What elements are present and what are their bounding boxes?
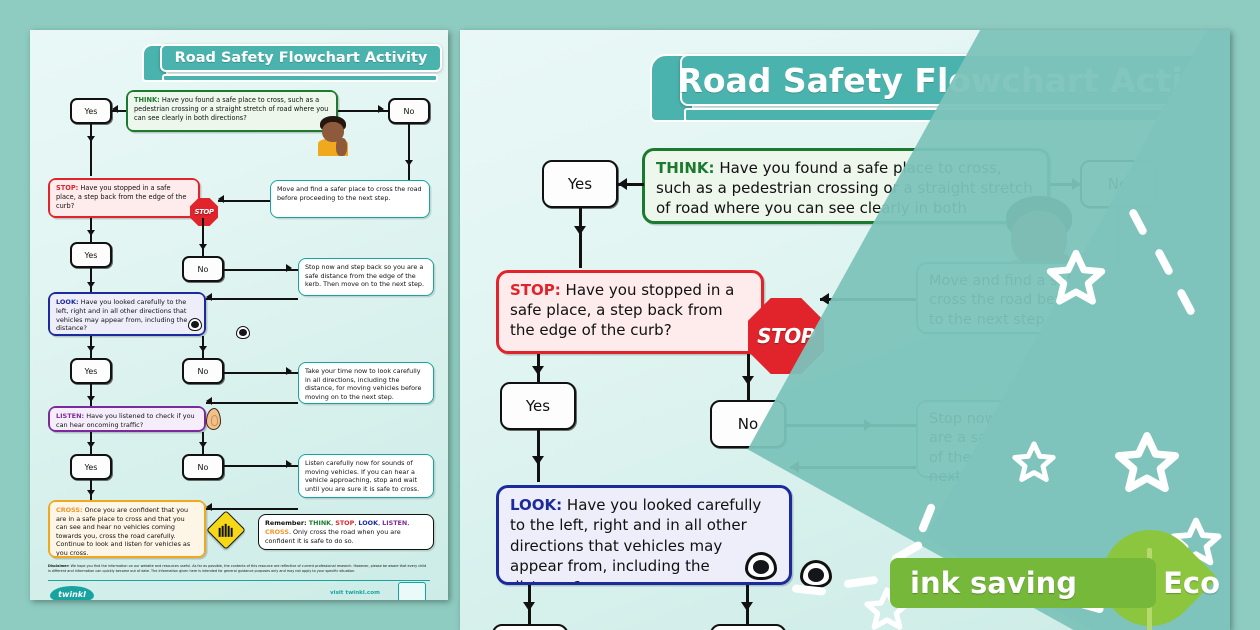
zoom-question-keyword-think: THINK:	[656, 159, 715, 177]
arrowhead-listen-yes	[87, 442, 95, 448]
question-text-think: Have you found a safe place to cross, su…	[134, 96, 328, 122]
remember-lead: Remember:	[265, 519, 309, 527]
yes-node-stop[interactable]: Yes	[70, 242, 112, 268]
visit-twinkl-link[interactable]: visit twinkl.com	[330, 590, 380, 596]
stop-sign-icon: STOP	[190, 198, 218, 226]
connector-yes1-down	[90, 124, 92, 176]
response-box-think-no[interactable]: Move and find a safer place to cross the…	[270, 180, 430, 218]
zoom-response-text-stop-no: Stop now and step back so you are a safe…	[929, 411, 1175, 485]
watermark-dash-9	[1120, 588, 1155, 600]
zoom-question-box-think[interactable]: THINK: Have you found a safe place to cr…	[642, 148, 1050, 224]
connector-resp2-to-look	[206, 298, 298, 300]
eco-badge-text-right: Eco	[1163, 566, 1220, 600]
zoom-yes-node-stop-label: Yes	[526, 397, 550, 415]
watermark-dash-10	[1073, 598, 1104, 614]
question-keyword-stop: STOP:	[56, 184, 78, 192]
response-text-listen-no: Listen carefully now for sounds of movin…	[305, 459, 419, 493]
eco-leaf-icon	[1082, 510, 1218, 630]
visit-twinkl-text: visit twinkl.com	[330, 590, 380, 596]
question-box-listen[interactable]: LISTEN: Have you listened to check if yo…	[48, 406, 206, 432]
zoom-arrowhead-yes1-down	[574, 226, 586, 235]
thinking-person-illustration	[318, 116, 348, 156]
watermark-dash-5	[890, 540, 923, 564]
question-box-cross[interactable]: CROSS: Once you are confident that you a…	[48, 500, 206, 558]
connector-resp4-to-cross	[206, 508, 298, 510]
zoom-arrowhead-resp2-look	[790, 461, 799, 473]
yes-node-listen-label: Yes	[85, 463, 98, 472]
zoom-no-node-think-label: No	[1108, 175, 1128, 193]
arrowhead-yes3-down	[87, 396, 95, 402]
connector-no1-down	[408, 124, 410, 180]
zoom-arrowhead-yes2-down	[532, 456, 544, 465]
zoom-preview-page[interactable]: Road Safety Flowchart Activity Yes THINK…	[460, 30, 1230, 630]
watermark-dash-4	[918, 503, 937, 534]
connector-yes2-down	[90, 268, 92, 292]
zoom-stop-sign-icon: STOP	[748, 298, 824, 374]
disclaimer-body: We hope you find the information on our …	[48, 564, 426, 573]
zoom-connector-resp2-look	[790, 466, 916, 469]
yes-node-look-label: Yes	[85, 367, 98, 376]
zoom-connector-no2-resp2	[786, 424, 916, 427]
thumbnail-title-text: Road Safety Flowchart Activity	[175, 50, 428, 66]
zoom-question-box-stop[interactable]: STOP: Have you stopped in a safe place, …	[496, 270, 764, 354]
zoom-title-text: Road Safety Flowchart Activity	[677, 61, 1230, 100]
arrowhead-yes1-down	[87, 136, 95, 142]
yes-node-look[interactable]: Yes	[70, 358, 112, 384]
arrowhead-resp1-stop	[218, 195, 224, 203]
arrowhead-stop-yes	[87, 230, 95, 236]
arrowhead-resp4-cross	[206, 503, 212, 511]
zoom-eye-icon-inner	[745, 552, 777, 580]
no-node-listen[interactable]: No	[182, 454, 224, 480]
no-node-think[interactable]: No	[388, 98, 430, 124]
watermark-star-4	[1168, 516, 1224, 570]
arrowhead-no3-resp3	[286, 367, 292, 375]
twinkl-stamp-icon	[398, 582, 426, 600]
zoom-arrowhead-stop-no	[742, 376, 754, 385]
remember-word-think: THINK	[309, 519, 331, 527]
eye-icon-inner	[188, 318, 202, 331]
yes-node-stop-label: Yes	[85, 251, 98, 260]
zoom-no-node-stop[interactable]: No	[710, 400, 786, 448]
remember-word-look: LOOK	[358, 519, 378, 527]
zoom-arrowhead-look-yes	[523, 602, 535, 611]
zoom-response-text-think-no: Move and find a safer place to cross the…	[929, 273, 1169, 328]
arrowhead-yes2-down	[87, 282, 95, 288]
zoom-arrowhead-stop-yes	[532, 366, 544, 375]
zoom-connector-yes1-down	[579, 208, 582, 268]
arrowhead-look-yes	[87, 346, 95, 352]
watermark-dash-8	[1168, 566, 1203, 582]
eye-icon-outer	[236, 326, 250, 339]
arrowhead-yes4-down	[87, 490, 95, 496]
remember-word-stop: STOP	[335, 519, 354, 527]
no-node-stop-label: No	[198, 265, 209, 274]
arrowhead-think-no	[378, 105, 384, 113]
response-box-listen-no[interactable]: Listen carefully now for sounds of movin…	[298, 454, 434, 498]
question-box-look[interactable]: LOOK: Have you looked carefully to the l…	[48, 292, 206, 336]
eco-badge-band: ink saving	[890, 558, 1156, 608]
response-text-look-no: Take your time now to look carefully in …	[305, 367, 421, 401]
watermark-dash-6	[844, 576, 879, 589]
yes-node-listen[interactable]: Yes	[70, 454, 112, 480]
zoom-yes-node-look[interactable]: Yes	[492, 624, 568, 630]
question-keyword-think: THINK:	[134, 96, 160, 104]
thumbnail-title-banner: Road Safety Flowchart Activity	[142, 42, 442, 86]
zoom-title-banner: Road Safety Flowchart Activity	[650, 50, 1230, 130]
response-box-look-no[interactable]: Take your time now to look carefully in …	[298, 362, 434, 404]
arrowhead-resp3-listen	[206, 397, 212, 405]
stop-sign-label: STOP	[195, 208, 214, 216]
zoom-arrowhead-think-no	[1072, 178, 1081, 190]
arrowhead-no2-resp2	[286, 264, 292, 272]
zoom-eye-icon-outer	[800, 560, 832, 588]
yes-node-think[interactable]: Yes	[70, 98, 112, 124]
screenshot-root: Road Safety Flowchart Activity Yes THINK…	[0, 0, 1260, 630]
zoom-no-node-stop-label: No	[738, 415, 758, 433]
arrowhead-no1-down	[405, 160, 413, 166]
no-node-stop[interactable]: No	[182, 256, 224, 282]
eco-badge-text-left: ink saving	[910, 566, 1077, 600]
disclaimer-lead: Disclaimer:	[48, 564, 71, 568]
zoom-yes-node-think[interactable]: Yes	[542, 160, 618, 208]
arrowhead-stop-no	[199, 244, 207, 250]
yes-node-think-label: Yes	[85, 107, 98, 116]
ear-icon	[206, 408, 221, 430]
watermark-dash-1	[1128, 208, 1148, 236]
remember-word-cross: CROSS	[265, 528, 289, 536]
remember-word-listen: LISTEN	[382, 519, 407, 527]
no-node-listen-label: No	[198, 463, 209, 472]
zoom-yes-node-stop[interactable]: Yes	[500, 382, 576, 430]
zoom-no-node-think[interactable]: No	[1080, 160, 1156, 208]
zoom-arrowhead-no1-down	[1112, 230, 1124, 239]
zoom-arrowhead-no2-resp2	[864, 419, 873, 431]
eco-leaf-stem	[1147, 548, 1152, 630]
remember-box[interactable]: Remember: THINK, STOP, LOOK, LISTEN, CRO…	[258, 514, 434, 550]
arrowhead-listen-no	[199, 442, 207, 448]
twinkl-logo-text: twinkl	[58, 590, 86, 599]
zoom-banner-bar: Road Safety Flowchart Activity	[680, 54, 1230, 106]
response-box-stop-no[interactable]: Stop now and step back so you are a safe…	[298, 258, 434, 296]
response-text-think-no: Move and find a safer place to cross the…	[277, 185, 422, 202]
pedestrian-crossing-sign-icon	[206, 510, 246, 550]
zoom-response-box-stop-no[interactable]: Stop now and step back so you are a safe…	[916, 400, 1192, 478]
zoom-response-box-think-no[interactable]: Move and find a safer place to cross the…	[916, 262, 1192, 334]
no-node-look[interactable]: No	[182, 358, 224, 384]
question-keyword-listen: LISTEN:	[56, 412, 84, 420]
question-keyword-cross: CROSS:	[56, 506, 83, 514]
zoom-question-keyword-stop: STOP:	[510, 281, 561, 299]
arrowhead-look-no	[199, 346, 207, 352]
zoom-question-keyword-look: LOOK:	[510, 496, 562, 514]
question-keyword-look: LOOK:	[56, 298, 79, 306]
connector-resp3-to-listen	[206, 402, 298, 404]
connector-stop-no-down	[202, 218, 204, 256]
no-node-think-label: No	[404, 107, 415, 116]
arrowhead-no4-resp4	[286, 460, 292, 468]
zoom-banner-underbar	[684, 108, 1230, 122]
zoom-arrowhead-look-no	[741, 602, 753, 611]
zoom-arrowhead-think-yes	[618, 178, 627, 190]
question-box-stop[interactable]: STOP: Have you stopped in a safe place, …	[48, 178, 200, 218]
disclaimer-text: Disclaimer: We hope you find the informa…	[48, 564, 430, 574]
footer-divider	[48, 580, 430, 581]
connector-yes3-down	[90, 384, 92, 406]
response-text-stop-no: Stop now and step back so you are a safe…	[305, 263, 424, 288]
arrowhead-think-yes	[112, 105, 118, 113]
banner-bar: Road Safety Flowchart Activity	[160, 44, 442, 72]
banner-underbar	[162, 74, 438, 82]
twinkl-logo[interactable]: twinkl	[50, 586, 94, 600]
arrowhead-resp2-look	[206, 293, 212, 301]
question-box-think[interactable]: THINK: Have you found a safe place to cr…	[126, 90, 338, 132]
no-node-look-label: No	[198, 367, 209, 376]
zoom-no-node-look[interactable]: No	[710, 624, 786, 630]
watermark-star-5	[862, 586, 912, 630]
thumbnail-page[interactable]: Road Safety Flowchart Activity Yes THINK…	[30, 30, 448, 600]
zoom-arrowhead-resp1-stop	[820, 293, 829, 305]
zoom-connector-resp1-stop	[820, 298, 916, 301]
zoom-yes-node-think-label: Yes	[568, 175, 592, 193]
connector-resp1-to-stop	[218, 200, 270, 202]
zoom-stop-sign-label: STOP	[757, 324, 815, 348]
